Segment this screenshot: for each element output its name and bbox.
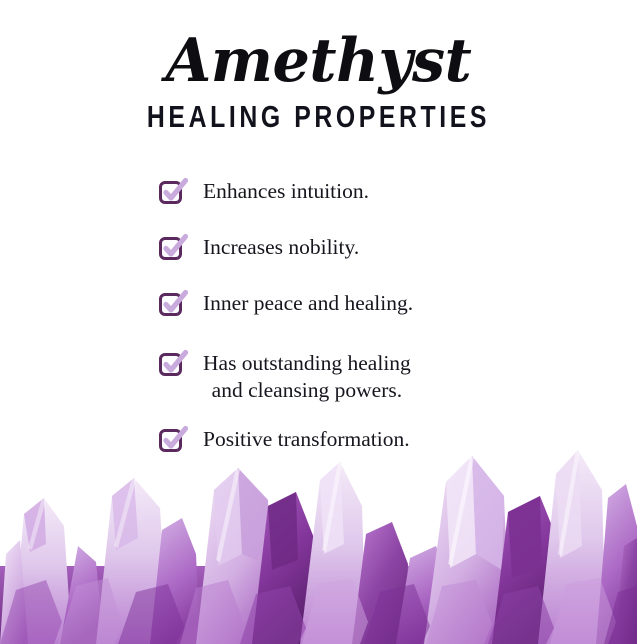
checked-checkbox-icon (159, 181, 185, 207)
list-item-label: Increases nobility. (203, 234, 359, 261)
infographic-card: Amethyst HEALING PROPERTIES Enhances int… (0, 0, 637, 644)
checked-checkbox-icon (159, 353, 185, 379)
list-item: Enhances intuition. (0, 178, 637, 220)
checked-checkbox-icon (159, 237, 185, 263)
amethyst-crystal-cluster (0, 434, 637, 644)
page-subtitle: HEALING PROPERTIES (64, 100, 574, 134)
page-title: Amethyst (6, 30, 630, 92)
list-item-label: Has outstanding healing and cleansing po… (203, 350, 411, 404)
list-item: Increases nobility. (0, 234, 637, 276)
header: Amethyst HEALING PROPERTIES (0, 30, 637, 134)
list-item-label: Enhances intuition. (203, 178, 369, 205)
checked-checkbox-icon (159, 293, 185, 319)
list-item-label: Inner peace and healing. (203, 290, 413, 317)
list-item: Inner peace and healing. (0, 290, 637, 332)
list-item: Has outstanding healing and cleansing po… (0, 350, 637, 404)
